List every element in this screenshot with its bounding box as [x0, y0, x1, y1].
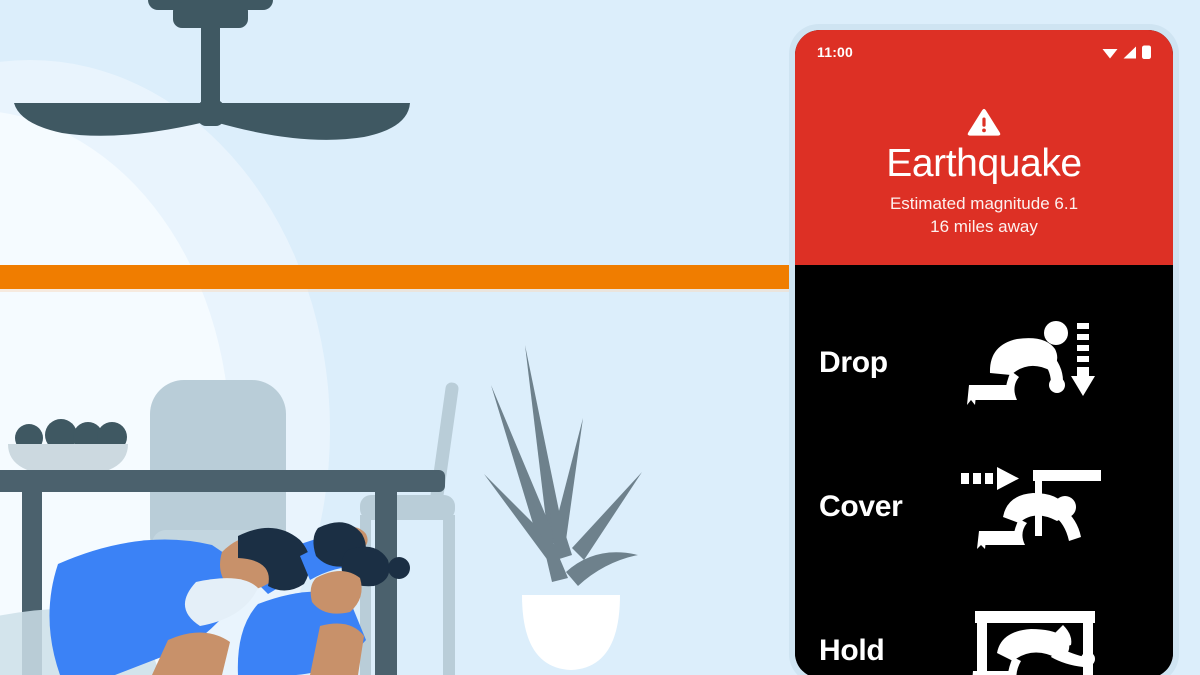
cell-signal-icon: [1123, 46, 1137, 59]
warning-triangle-icon: [967, 108, 1001, 138]
alert-body: Earthquake Estimated magnitude 6.1 16 mi…: [795, 108, 1173, 239]
orange-wall-stripe: [0, 265, 800, 289]
child-ball: [388, 557, 410, 579]
orange-stripe-shadow: [0, 289, 800, 292]
status-bar: 11:00: [795, 42, 1173, 62]
alert-title: Earthquake: [795, 144, 1173, 185]
safety-instructions-panel: Drop: [795, 265, 1173, 675]
instruction-step-hold: Hold: [819, 607, 1149, 675]
phone-screen: 11:00: [795, 30, 1173, 675]
status-bar-clock: 11:00: [817, 44, 853, 60]
step-label-cover: Cover: [819, 492, 947, 522]
dining-chair-leg-front: [443, 515, 455, 675]
alert-distance: 16 miles away: [795, 216, 1173, 239]
screenshot-root: 11:00: [0, 0, 1200, 675]
child-face: [311, 571, 362, 614]
instruction-step-cover: Cover: [819, 463, 1149, 551]
fan-hub: [198, 100, 224, 126]
fruit-bowl: [8, 419, 128, 476]
instruction-step-drop: Drop: [819, 319, 1149, 407]
wifi-icon: [1102, 46, 1118, 59]
person-moving-under-table-icon: [957, 463, 1107, 551]
dining-chair-seat: [360, 495, 455, 520]
person-holding-table-leg-icon: [957, 607, 1107, 675]
step-label-hold: Hold: [819, 636, 947, 666]
earthquake-alert-header: 11:00: [795, 30, 1173, 265]
table-top: [0, 470, 445, 492]
person-kneeling-down-arrow-icon: [957, 319, 1107, 407]
battery-icon: [1142, 45, 1151, 59]
alert-magnitude: Estimated magnitude 6.1: [795, 193, 1173, 216]
step-label-drop: Drop: [819, 348, 947, 378]
status-bar-icons: [1102, 45, 1151, 59]
phone-device: 11:00: [789, 24, 1179, 675]
fan-rod: [201, 24, 220, 109]
